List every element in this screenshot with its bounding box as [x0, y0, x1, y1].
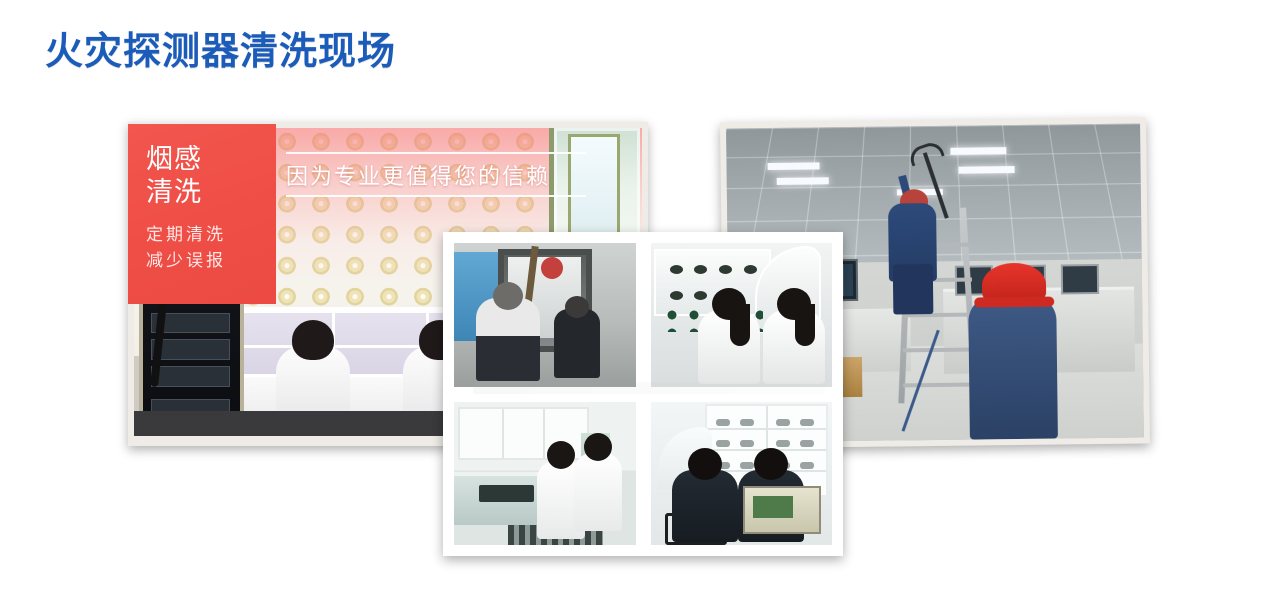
badge-heading-line1: 烟感 — [146, 144, 276, 177]
slogan-rule-bottom — [286, 195, 586, 197]
collage-cell-shelving-test — [648, 399, 836, 549]
banner-slogan-block: 因为专业更值得您的信赖 — [286, 152, 586, 197]
page-title: 火灾探测器清洗现场 — [45, 30, 396, 74]
technician — [672, 470, 738, 542]
ceiling-lamp — [768, 162, 820, 170]
slogan-rule-top — [286, 152, 586, 154]
test-instrument — [743, 486, 821, 534]
person — [554, 309, 600, 378]
ceiling-lamp — [950, 147, 1006, 155]
collage-cell-corridor — [451, 240, 639, 390]
supervisor-with-hard-hat — [968, 263, 1062, 440]
banner-slogan: 因为专业更值得您的信赖 — [286, 159, 586, 191]
technician — [763, 310, 825, 384]
photo-collage — [443, 232, 843, 556]
badge-sub-line2: 减少误报 — [146, 248, 276, 274]
badge-heading-line2: 清洗 — [146, 177, 276, 210]
collage-grid — [451, 240, 835, 548]
worker-on-ladder — [888, 189, 942, 315]
badge-sub-line1: 定期清洗 — [146, 222, 276, 248]
person — [476, 298, 540, 381]
smoke-detector-cleaning-badge: 烟感 清洗 定期清洗 减少误报 — [128, 124, 276, 304]
ceiling-lamp — [958, 166, 1014, 174]
technician — [698, 310, 760, 384]
collage-watermark — [473, 382, 825, 394]
technician — [574, 453, 622, 531]
collage-cell-detector-bench — [648, 240, 836, 390]
ceiling-lamp — [776, 178, 828, 186]
collage-cell-lab-bench — [451, 399, 639, 549]
